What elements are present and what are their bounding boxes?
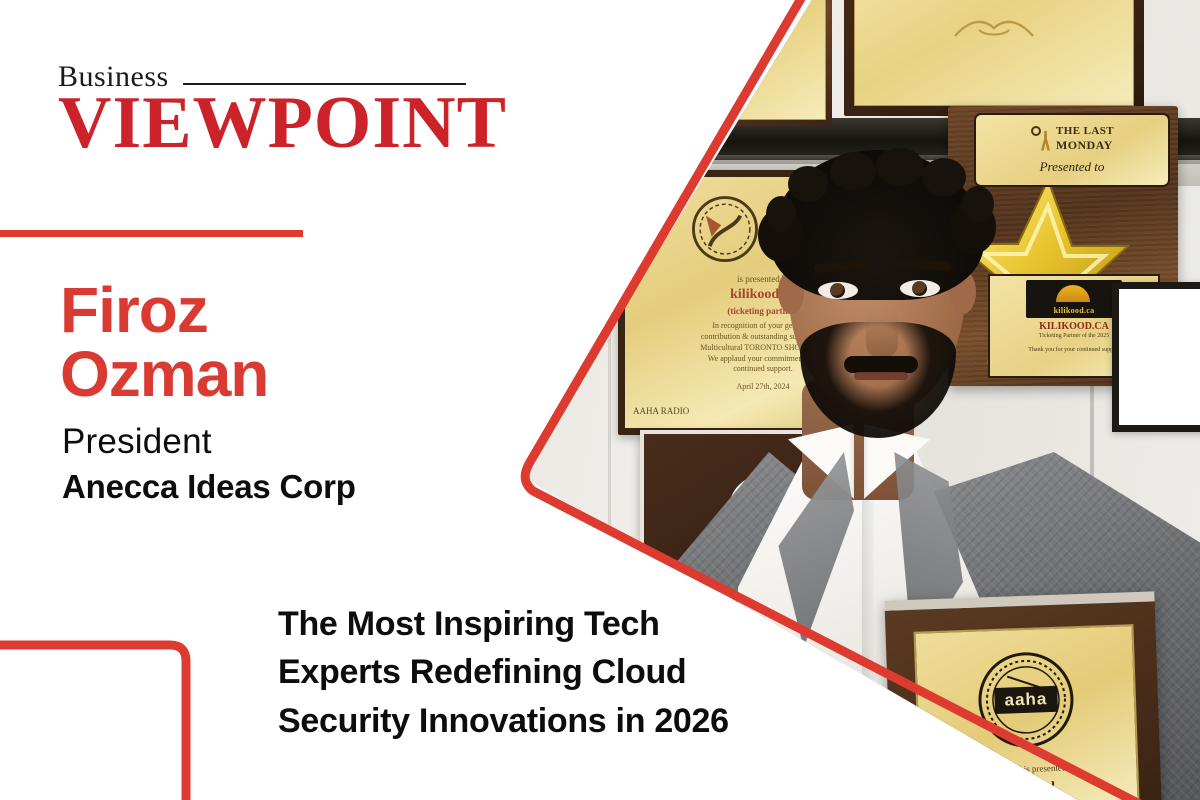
- accent-bar-top: [0, 230, 303, 237]
- held-award-plaque: aaha This award is presented to Kilikood…: [884, 591, 1161, 800]
- feature-role: President: [62, 422, 212, 462]
- mustache: [844, 356, 918, 373]
- shelf-plaque-line-3: AWARDS GALA 2023: [569, 63, 630, 70]
- eye-right: [900, 280, 940, 297]
- feature-name-line-2: Ozman: [60, 342, 268, 406]
- held-plaque-plate: aaha This award is presented to Kilikood…: [914, 624, 1140, 800]
- mouth: [854, 372, 908, 380]
- nose: [866, 296, 898, 358]
- masthead: Business VIEWPOINT: [58, 62, 507, 159]
- shelf-plaque-line-2: EXCELLENCE: [574, 53, 624, 61]
- cover-headline: The Most Inspiring Tech Experts Redefini…: [278, 600, 778, 745]
- feature-name-line-1: Firoz: [60, 278, 268, 342]
- held-plaque-line-2: Kilikood: [1003, 780, 1056, 798]
- feature-name-block: Firoz Ozman: [60, 278, 268, 406]
- hair-curl: [766, 196, 796, 232]
- hair-curl: [830, 152, 876, 190]
- hair-curl: [788, 166, 828, 202]
- corner-bracket: [0, 645, 186, 800]
- hair-curl: [876, 148, 924, 186]
- shelf-plaque-healthcare: HEALTHCARE EXCELLENCE AWARDS GALA 2023 T…: [530, 0, 668, 118]
- held-plaque-line-1: This award is presented to: [981, 762, 1076, 775]
- aaha-seal-icon: aaha: [970, 644, 1082, 756]
- feature-company: Anecca Ideas Corp: [62, 468, 356, 506]
- hair-curl: [962, 186, 994, 222]
- shirt-placket: [862, 470, 874, 800]
- shelf-plaque-line-4: Thank You for your support: [569, 72, 629, 78]
- shelf-plaque-line-1: HEALTHCARE: [573, 43, 624, 51]
- eye-left: [818, 282, 858, 299]
- masthead-title: VIEWPOINT: [58, 88, 507, 159]
- shelf-plaque-healthcare-plate: HEALTHCARE EXCELLENCE AWARDS GALA 2023 T…: [536, 0, 662, 112]
- diamond-icon: [593, 29, 606, 42]
- magazine-cover: HEALTHCARE EXCELLENCE AWARDS GALA 2023 T…: [0, 0, 1200, 800]
- aaha-wordmark: aaha: [994, 686, 1058, 714]
- hair-curl: [922, 158, 966, 196]
